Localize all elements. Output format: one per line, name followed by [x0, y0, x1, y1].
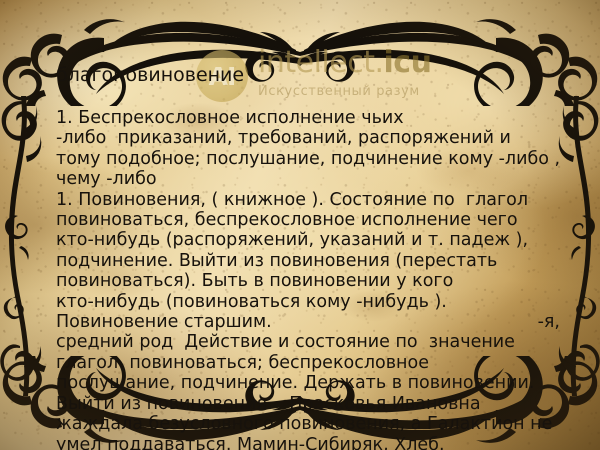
definition-line: тому подобное; послушание, подчинение ко…: [56, 149, 568, 169]
definition-line: подчинение. Выйти из повиновения (перест…: [56, 251, 568, 271]
dictionary-slide: AI intellect.icu Искусственный разум бла…: [0, 0, 600, 450]
definition-line: повиноваться). Быть в повиновении у кого: [56, 271, 568, 291]
watermark-brand-prefix: intellect.: [258, 45, 384, 80]
definition-line: умел поддаваться. Мамин-Сибиряк, Хлеб. {…: [56, 435, 568, 450]
definition-line: 1. Повиновения, ( книжное ). Состояние п…: [56, 190, 568, 210]
definition-line: послушание, подчинение. Держать в повино…: [56, 373, 568, 393]
definition-line: чему -либо: [56, 169, 568, 189]
watermark-subtitle: Искусственный разум: [258, 85, 431, 98]
definition-line: кто-нибудь (повиноваться кому -нибудь ).: [56, 292, 568, 312]
definition-body: 1. Беспрекословное исполнение чьих-либо …: [56, 108, 568, 450]
definition-line: повиноваться, беспрекословное исполнение…: [56, 210, 568, 230]
ornament-left-flourish: [0, 96, 46, 396]
definition-line: кто-нибудь (распоряжений, указаний и т. …: [56, 230, 568, 250]
watermark-text-block: intellect.icu Искусственный разум: [258, 48, 431, 98]
watermark-brand-suffix: icu: [384, 45, 432, 80]
definition-line: -либо приказаний, требований, распоряжен…: [56, 128, 568, 148]
definition-line: 1. Беспрекословное исполнение чьих: [56, 108, 568, 128]
watermark-brand: intellect.icu: [258, 48, 431, 78]
headword-title: благоповиновение: [56, 64, 244, 86]
definition-line: Выйти из повиновения. Прасковья Ивановна: [56, 394, 568, 414]
definition-line: глагол повиноваться; беспрекословное: [56, 353, 568, 373]
definition-line: жаждала безусловного повиновения, а Гала…: [56, 414, 568, 434]
definition-line: средний род Действие и состояние по знач…: [56, 332, 568, 352]
ornament-top-flourish: [0, 14, 600, 106]
